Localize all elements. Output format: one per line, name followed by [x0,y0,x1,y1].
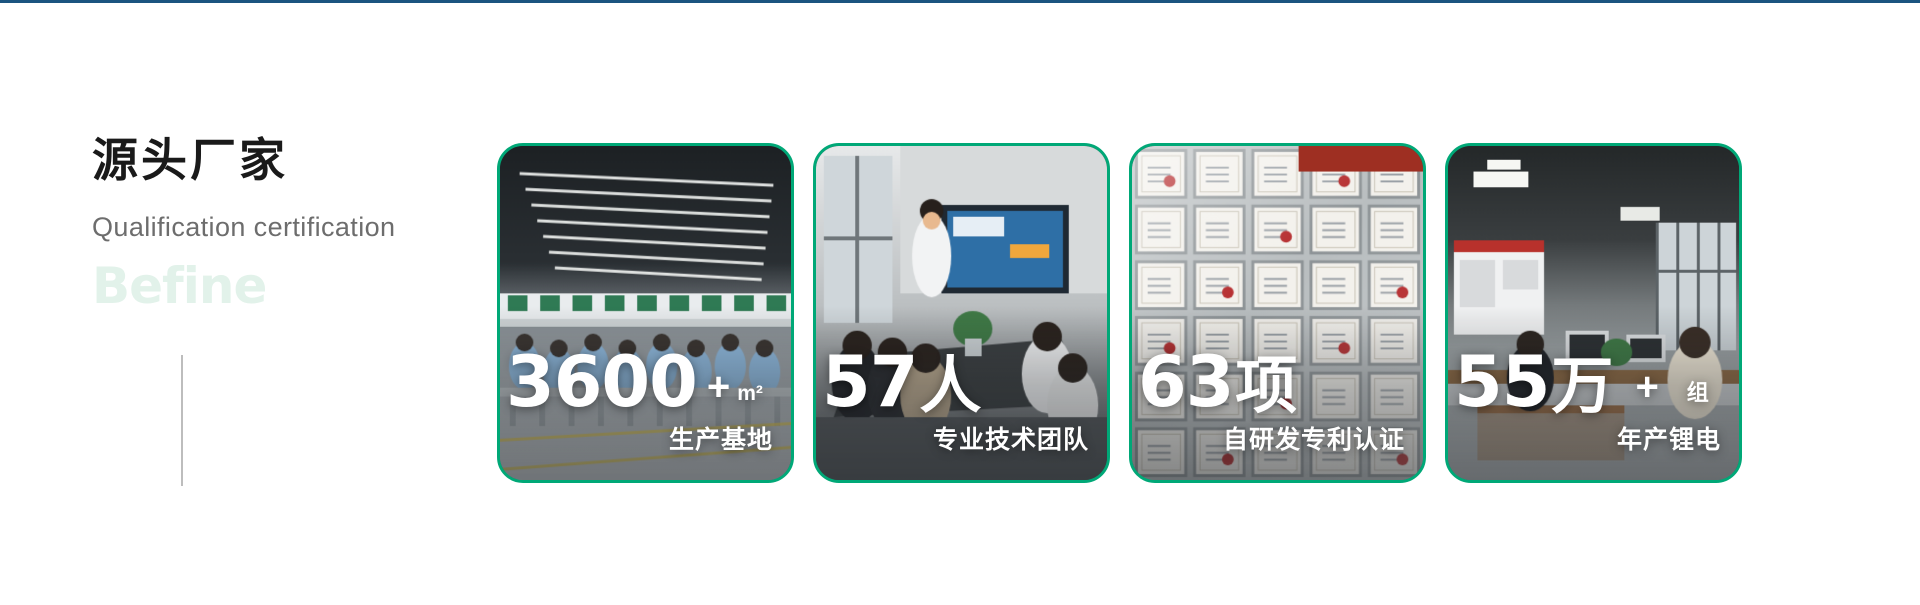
stat-overlay: 63项自研发专利认证 [1132,350,1423,456]
page-title: 源头厂家 [92,135,492,186]
stat-value-row: 57人 [822,350,1089,414]
stat-plus-sign: + [1635,369,1658,406]
brand-watermark: Befine [92,261,492,311]
stat-overlay: 57人专业技术团队 [816,350,1107,456]
left-heading-block: 源头厂家 Qualification certification Befine [92,135,492,311]
stat-number: 3600 [506,350,697,414]
stat-caption: 自研发专利认证 [1138,420,1405,456]
stat-card-annual-output[interactable]: 55万+组年产锂电 [1445,143,1742,483]
stat-cn-unit: 人 [919,357,981,414]
stat-caption: 专业技术团队 [822,420,1089,456]
top-accent-rule [0,0,1920,3]
stat-number: 63 [1138,350,1233,414]
stats-card-list: 3600+m²生产基地57人专业技术团队63项自研发专利认证55万+组年产锂电 [497,143,1742,483]
stat-value-row: 55万+组 [1454,350,1721,414]
stat-value-row: 63项 [1138,350,1405,414]
stat-card-technical-team[interactable]: 57人专业技术团队 [813,143,1110,483]
stat-card-production-base[interactable]: 3600+m²生产基地 [497,143,794,483]
stat-cn-unit: 万 [1551,357,1613,414]
stat-overlay: 3600+m²生产基地 [500,350,791,456]
stat-card-patents[interactable]: 63项自研发专利认证 [1129,143,1426,483]
stat-number: 55 [1454,350,1549,414]
stat-cn-unit: 项 [1235,357,1297,414]
stat-unit: 组 [1687,383,1709,403]
page-subtitle: Qualification certification [92,212,492,243]
stat-caption: 年产锂电 [1454,420,1721,456]
stat-value-row: 3600+m² [506,350,773,414]
stat-unit: m² [737,384,763,403]
vertical-divider [181,355,183,486]
stat-caption: 生产基地 [506,420,773,456]
stat-overlay: 55万+组年产锂电 [1448,350,1739,456]
stat-number: 57 [822,350,917,414]
stat-plus-sign: + [707,369,730,406]
page-root: 源头厂家 Qualification certification Befine … [0,0,1920,605]
